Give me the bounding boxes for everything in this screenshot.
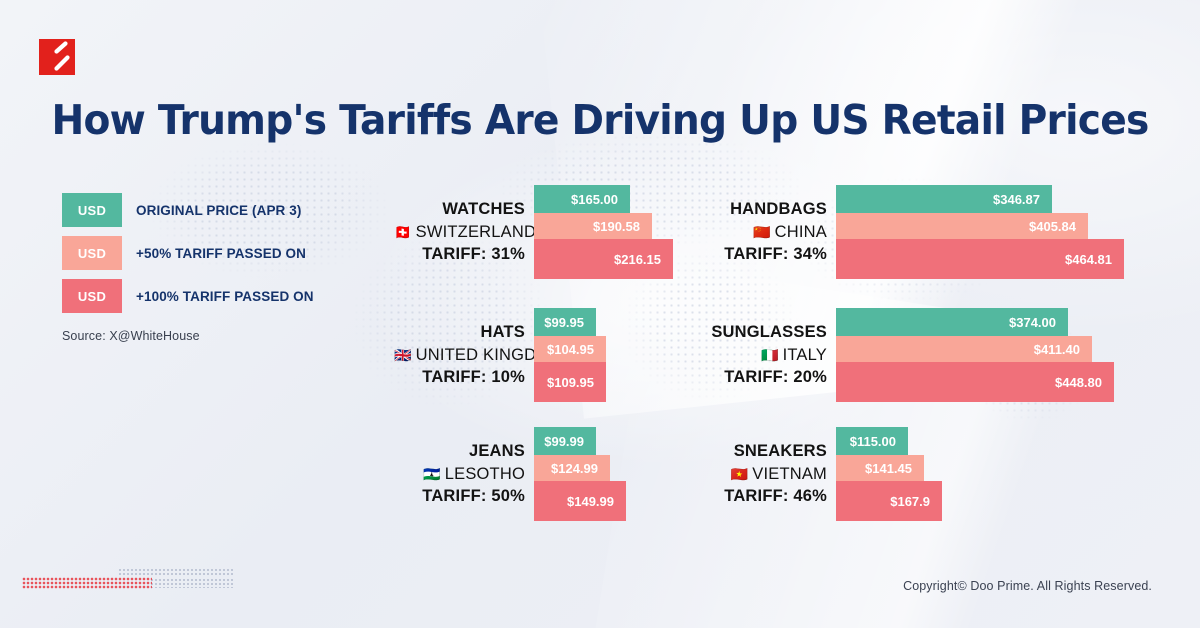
legend-swatch-100: USD [62, 279, 122, 313]
bar-stack: $165.00$190.58$216.15 [534, 185, 673, 279]
country-row: 🇬🇧UNITED KINGDOM [394, 344, 525, 367]
tariff-label: TARIFF: 20% [696, 366, 827, 389]
product-name: HANDBAGS [696, 198, 827, 221]
legend-label-100: +100% TARIFF PASSED ON [136, 289, 314, 304]
bar-original: $346.87 [836, 185, 1052, 213]
bar-stack: $346.87$405.84$464.81 [836, 185, 1124, 279]
bar-stack: $115.00$141.45$167.9 [836, 427, 942, 521]
source-note: Source: X@WhiteHouse [62, 329, 200, 343]
bar-tariff-100: $448.80 [836, 362, 1114, 402]
bar-tariff-100: $167.9 [836, 481, 942, 521]
flag-icon: 🇨🇭 [394, 225, 412, 241]
flag-icon: 🇬🇧 [394, 348, 412, 364]
flag-icon: 🇮🇹 [761, 348, 779, 364]
bar-value-label: $190.58 [593, 219, 640, 234]
legend-item-100: USD +100% TARIFF PASSED ON [62, 279, 392, 313]
bar-tariff-50: $411.40 [836, 336, 1092, 362]
bar-original: $99.95 [534, 308, 596, 336]
group-labels: JEANS🇱🇸LESOTHOTARIFF: 50% [394, 440, 534, 508]
bar-value-label: $216.15 [614, 252, 661, 267]
bar-original: $115.00 [836, 427, 908, 455]
tariff-label: TARIFF: 50% [394, 485, 525, 508]
bar-value-label: $141.45 [865, 461, 912, 476]
chart-group-jeans: JEANS🇱🇸LESOTHOTARIFF: 50%$99.99$124.99$1… [394, 427, 626, 521]
bar-value-label: $374.00 [1009, 315, 1056, 330]
country-row: 🇻🇳VIETNAM [696, 463, 827, 486]
bar-tariff-100: $149.99 [534, 481, 626, 521]
product-name: JEANS [394, 440, 525, 463]
country-name: ITALY [783, 346, 827, 364]
chart-group-watches: WATCHES🇨🇭SWITZERLANDTARIFF: 31%$165.00$1… [394, 185, 673, 279]
decor-dots-red [22, 577, 152, 589]
bar-value-label: $149.99 [567, 494, 614, 509]
page-title: How Trump's Tariffs Are Driving Up US Re… [27, 96, 1173, 144]
bar-value-label: $104.95 [547, 342, 594, 357]
group-labels: HATS🇬🇧UNITED KINGDOMTARIFF: 10% [394, 321, 534, 389]
bar-stack: $99.99$124.99$149.99 [534, 427, 626, 521]
bar-value-label: $405.84 [1029, 219, 1076, 234]
chart-group-handbags: HANDBAGS🇨🇳CHINATARIFF: 34%$346.87$405.84… [696, 185, 1124, 279]
bar-stack: $99.95$104.95$109.95 [534, 308, 606, 402]
bar-tariff-50: $405.84 [836, 213, 1088, 239]
group-labels: SNEAKERS🇻🇳VIETNAMTARIFF: 46% [696, 440, 836, 508]
bar-value-label: $411.40 [1034, 342, 1080, 357]
bar-value-label: $115.00 [850, 434, 896, 449]
group-labels: SUNGLASSES🇮🇹ITALYTARIFF: 20% [696, 321, 836, 389]
tariff-label: TARIFF: 46% [696, 485, 827, 508]
bar-tariff-100: $109.95 [534, 362, 606, 402]
bar-value-label: $165.00 [571, 192, 618, 207]
group-labels: HANDBAGS🇨🇳CHINATARIFF: 34% [696, 198, 836, 266]
chart-group-hats: HATS🇬🇧UNITED KINGDOMTARIFF: 10%$99.95$10… [394, 308, 606, 402]
bar-tariff-50: $104.95 [534, 336, 606, 362]
doo-prime-logo [39, 39, 75, 75]
legend: USD ORIGINAL PRICE (APR 3) USD +50% TARI… [62, 193, 392, 322]
bar-value-label: $464.81 [1065, 252, 1112, 267]
copyright-text: Copyright© Doo Prime. All Rights Reserve… [903, 579, 1152, 593]
legend-item-original: USD ORIGINAL PRICE (APR 3) [62, 193, 392, 227]
bar-original: $99.99 [534, 427, 596, 455]
tariff-label: TARIFF: 10% [394, 366, 525, 389]
country-name: VIETNAM [752, 465, 827, 483]
product-name: SNEAKERS [696, 440, 827, 463]
bar-value-label: $167.9 [890, 494, 930, 509]
bar-value-label: $99.95 [544, 315, 584, 330]
product-name: SUNGLASSES [696, 321, 827, 344]
chart-group-sunglasses: SUNGLASSES🇮🇹ITALYTARIFF: 20%$374.00$411.… [696, 308, 1114, 402]
flag-icon: 🇱🇸 [423, 467, 441, 483]
country-name: CHINA [775, 223, 827, 241]
bar-tariff-100: $464.81 [836, 239, 1124, 279]
decor-dots-gray-bottom [150, 578, 234, 588]
country-name: SWITZERLAND [416, 223, 536, 241]
country-row: 🇱🇸LESOTHO [394, 463, 525, 486]
legend-label-50: +50% TARIFF PASSED ON [136, 246, 306, 261]
product-name: HATS [394, 321, 525, 344]
country-row: 🇮🇹ITALY [696, 344, 827, 367]
legend-item-50: USD +50% TARIFF PASSED ON [62, 236, 392, 270]
flag-icon: 🇨🇳 [753, 225, 771, 241]
bar-value-label: $109.95 [547, 375, 594, 390]
bar-tariff-50: $124.99 [534, 455, 610, 481]
bar-original: $165.00 [534, 185, 630, 213]
bar-stack: $374.00$411.40$448.80 [836, 308, 1114, 402]
country-row: 🇨🇭SWITZERLAND [394, 221, 525, 244]
bar-tariff-100: $216.15 [534, 239, 673, 279]
bar-tariff-50: $190.58 [534, 213, 652, 239]
legend-label-original: ORIGINAL PRICE (APR 3) [136, 203, 301, 218]
chart-group-sneakers: SNEAKERS🇻🇳VIETNAMTARIFF: 46%$115.00$141.… [696, 427, 942, 521]
decorative-dot-bar [22, 568, 234, 590]
bar-value-label: $448.80 [1055, 375, 1102, 390]
legend-swatch-original: USD [62, 193, 122, 227]
country-row: 🇨🇳CHINA [696, 221, 827, 244]
decor-dots-gray-top [118, 568, 234, 577]
legend-swatch-50: USD [62, 236, 122, 270]
product-name: WATCHES [394, 198, 525, 221]
flag-icon: 🇻🇳 [731, 467, 749, 483]
tariff-label: TARIFF: 34% [696, 243, 827, 266]
country-name: LESOTHO [445, 465, 525, 483]
bar-original: $374.00 [836, 308, 1068, 336]
bar-value-label: $124.99 [551, 461, 598, 476]
bar-value-label: $99.99 [544, 434, 584, 449]
bar-tariff-50: $141.45 [836, 455, 924, 481]
tariff-label: TARIFF: 31% [394, 243, 525, 266]
bar-value-label: $346.87 [993, 192, 1040, 207]
group-labels: WATCHES🇨🇭SWITZERLANDTARIFF: 31% [394, 198, 534, 266]
